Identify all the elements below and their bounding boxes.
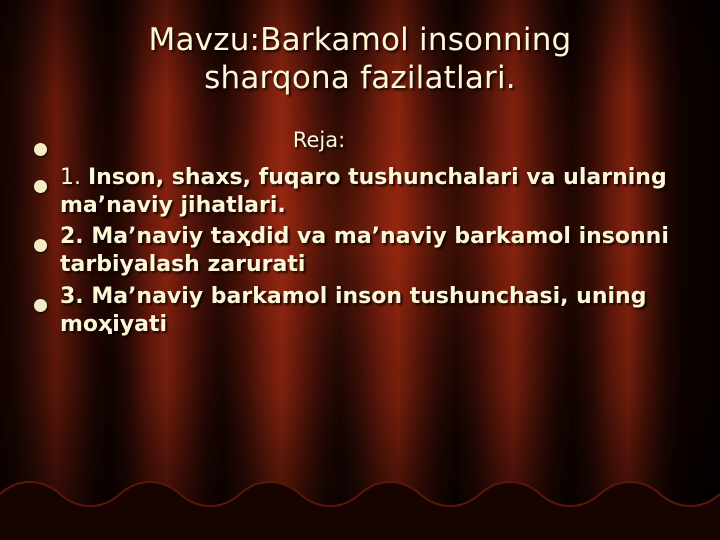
page-title-line-2: sharqona fazilatlari. xyxy=(30,60,690,98)
list-item-label: 2. Ma’naviy taҳdid va ma’naviy barkamol … xyxy=(60,222,698,279)
bullet-dot-icon xyxy=(26,282,60,317)
slide-body-list: Reja: 1. Inson, shaxs, fuqaro tushunchal… xyxy=(26,126,698,341)
list-item-number: 1. xyxy=(60,165,81,190)
drape-bottom-edge xyxy=(0,468,720,540)
presentation-slide: Mavzu:Barkamol insonning sharqona fazila… xyxy=(0,0,720,540)
bullet-dot-icon xyxy=(26,126,60,161)
drape-shape-icon xyxy=(0,468,720,540)
list-item-label: 1. Inson, shaxs, fuqaro tushunchalari va… xyxy=(60,163,698,220)
bullet-dot-icon xyxy=(26,222,60,257)
list-item-label: 3. Ma’naviy barkamol inson tushunchasi, … xyxy=(60,282,698,339)
list-item: 1. Inson, shaxs, fuqaro tushunchalari va… xyxy=(26,163,698,220)
list-item-label: Reja: xyxy=(60,126,698,154)
page-title-line-1: Mavzu:Barkamol insonning xyxy=(30,22,690,60)
list-item: 3. Ma’naviy barkamol inson tushunchasi, … xyxy=(26,282,698,339)
list-item-text: Inson, shaxs, fuqaro tushunchalari va ul… xyxy=(60,165,667,218)
bullet-dot-icon xyxy=(26,163,60,198)
page-title: Mavzu:Barkamol insonning sharqona fazila… xyxy=(30,22,690,98)
list-item: 2. Ma’naviy taҳdid va ma’naviy barkamol … xyxy=(26,222,698,279)
list-item: Reja: xyxy=(26,126,698,161)
